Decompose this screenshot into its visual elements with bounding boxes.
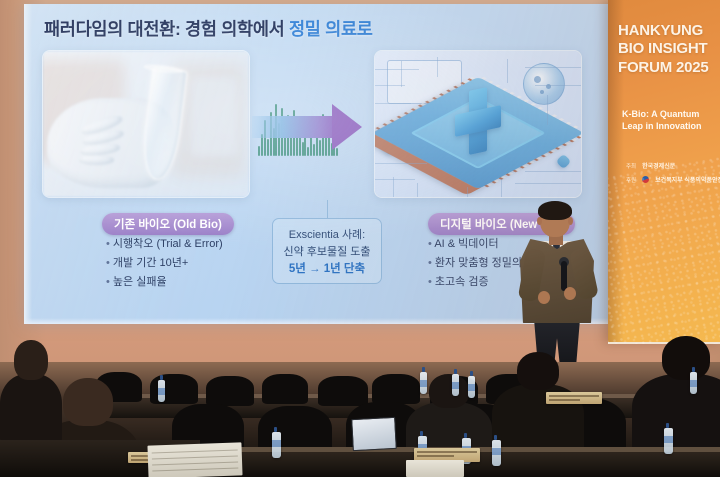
screen-left-highlight <box>24 4 32 324</box>
host-name: 한국경제신문 <box>642 161 675 170</box>
slide-title-accent: 정밀 의료로 <box>289 19 373 39</box>
banner-supporter-row: 후원 보건복지부 식품의약품안전처 <box>626 175 720 184</box>
audience-member-head <box>662 336 710 380</box>
microphone-icon <box>561 261 567 291</box>
list-item: 시행착오 (Trial & Error) <box>106 235 223 254</box>
circuit-trace <box>375 163 427 164</box>
water-bottle <box>664 428 673 454</box>
chair <box>318 376 368 406</box>
banner-title-line: FORUM 2025 <box>618 59 720 77</box>
new-bio-illustration-panel <box>374 50 582 198</box>
circuit-trace <box>507 59 508 83</box>
circuit-trace <box>515 183 581 184</box>
chair <box>262 374 308 404</box>
banner-subtitle: K-Bio: A Quantum Leap in Innovation <box>622 108 720 132</box>
circuit-trace <box>375 179 415 180</box>
case-line-1: Exscientia 사례: <box>289 226 366 242</box>
cell-nucleus-dot <box>534 76 541 83</box>
event-banner: HANKYUNG BIO INSIGHT FORUM 2025 K-Bio: A… <box>608 0 720 344</box>
presenter-figure <box>512 203 604 363</box>
audience-member-head <box>517 352 559 390</box>
lab-background-blur-c <box>191 77 236 156</box>
table-name-card <box>546 392 602 404</box>
water-bottle <box>452 374 459 396</box>
water-bottle <box>492 440 501 466</box>
waveform-bar <box>267 139 269 156</box>
waveform-bar <box>313 144 315 156</box>
audience-member-torso <box>0 374 62 444</box>
host-label: 주최 <box>626 162 636 170</box>
center-box-connector <box>327 200 328 218</box>
transition-arrow-with-waveform <box>252 96 376 160</box>
cell-organelle-dot <box>540 90 544 94</box>
arrow-head <box>332 104 362 150</box>
audience-member <box>632 336 720 458</box>
water-bottle <box>420 372 427 394</box>
water-bottle <box>158 380 165 402</box>
audience-member-head <box>429 374 469 408</box>
presenter-ear <box>568 217 573 225</box>
taegeuk-emblem-icon <box>642 176 649 183</box>
banner-title-line: HANKYUNG <box>618 22 720 40</box>
glove-finger <box>79 155 113 165</box>
arrow-shaft <box>252 116 338 138</box>
case-line-2: 신약 후보물질 도출 <box>283 243 370 259</box>
paper-document <box>406 460 464 477</box>
waveform-bar <box>310 136 312 156</box>
waveform-bar <box>319 140 321 156</box>
circuit-trace <box>467 187 468 198</box>
circuit-trace <box>525 67 582 68</box>
waveform-bar <box>258 146 260 156</box>
supporter-name: 보건복지부 식품의약품안전처 <box>655 175 720 184</box>
circuit-trace <box>393 177 394 198</box>
circuit-trace <box>525 171 582 172</box>
audience-member-head <box>63 378 113 426</box>
banner-subtitle-line: K-Bio: A Quantum <box>622 108 720 120</box>
circuit-trace <box>375 103 411 104</box>
presenter-hand <box>538 291 550 304</box>
old-bio-bullet-list: 시행착오 (Trial & Error) 개발 기간 10년+ 높은 실패율 <box>106 235 223 292</box>
banner-title: HANKYUNG BIO INSIGHT FORUM 2025 <box>618 22 720 77</box>
list-item: 높은 실패율 <box>106 273 223 292</box>
waveform-bar <box>302 142 304 156</box>
isometric-bio-chip-illustration <box>375 51 581 197</box>
banner-title-line: BIO INSIGHT <box>618 40 720 58</box>
circuit-trace <box>437 57 438 77</box>
waveform-bar <box>307 147 309 156</box>
case-line-3: 5년 → 1년 단축 <box>289 260 365 276</box>
circuit-trace <box>375 69 419 70</box>
supporter-label: 후원 <box>626 176 636 184</box>
laptop-screen <box>351 417 397 451</box>
exscientia-case-box: Exscientia 사례: 신약 후보물질 도출 5년 → 1년 단축 <box>272 218 382 284</box>
circuit-trace <box>417 183 418 198</box>
list-item: 개발 기간 10년+ <box>106 254 223 273</box>
waveform-bar <box>325 135 327 156</box>
slide-title: 패러다임의 대전환: 경험 의학에서 정밀 의료로 <box>44 16 373 41</box>
circuit-trace <box>547 95 548 125</box>
water-bottle <box>690 372 697 394</box>
old-bio-photo-panel <box>42 50 250 198</box>
slide-title-main: 패러다임의 대전환: 경험 의학에서 <box>44 19 289 39</box>
conference-hall-photo: 패러다임의 대전환: 경험 의학에서 정밀 의료로 <box>0 0 720 477</box>
old-bio-pill-label: 기존 바이오 (Old Bio) <box>102 213 234 235</box>
paper-document <box>147 442 242 477</box>
presenter-hair <box>538 201 572 220</box>
audience-member-torso <box>632 374 720 452</box>
chair <box>206 376 254 406</box>
water-bottle <box>272 432 281 458</box>
waveform-bar <box>290 137 292 156</box>
presenter-ear <box>537 217 542 225</box>
water-bottle <box>468 376 475 398</box>
banner-host-row: 주최 한국경제신문 <box>626 161 675 170</box>
audience-member <box>492 352 584 460</box>
circuit-trace <box>401 61 402 87</box>
banner-subtitle-line: Leap in Innovation <box>622 120 720 132</box>
gloved-hand-holding-test-tube-photo <box>43 51 249 197</box>
audience-member <box>0 340 62 450</box>
circuit-trace <box>535 85 582 86</box>
circuit-trace <box>501 179 502 198</box>
presenter-hand <box>564 287 576 300</box>
medical-cross-icon <box>455 84 501 158</box>
audience-member-head <box>14 340 48 380</box>
